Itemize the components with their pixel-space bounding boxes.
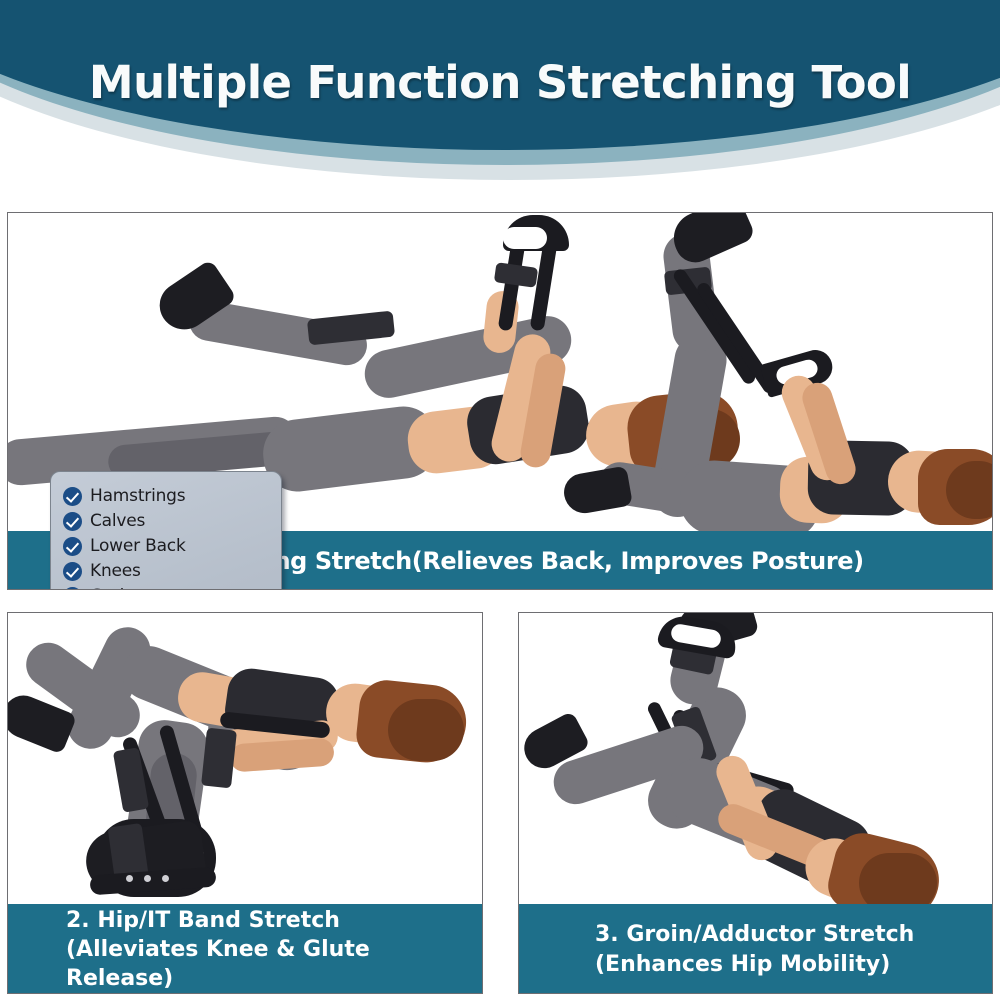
panel-2-caption: 2. Hip/IT Band Stretch (Alleviates Knee … — [8, 904, 482, 994]
page-header: Multiple Function Stretching Tool — [0, 0, 1000, 185]
exercise-panel-3: 3. Groin/Adductor Stretch (Enhances Hip … — [518, 612, 993, 994]
panel-2-caption-line-2: (Alleviates Knee & Glute Release) — [66, 935, 482, 993]
check-circle-icon — [63, 487, 82, 506]
page-title: Multiple Function Stretching Tool — [0, 56, 1000, 109]
checklist-item-label: Lower Back — [90, 536, 186, 556]
checklist-item-label: Knees — [90, 561, 141, 581]
exercise-image-2 — [8, 613, 482, 904]
checklist-item: Knees — [63, 559, 271, 583]
target-muscle-checklist: HamstringsCalvesLower BackKneesGroinGlut… — [50, 471, 282, 590]
panel-3-caption-line-1: 3. Groin/Adductor Stretch — [595, 920, 992, 949]
exercise-panel-2: 2. Hip/IT Band Stretch (Alleviates Knee … — [7, 612, 483, 994]
checklist-item: Hamstrings — [63, 484, 271, 508]
checklist-item: Calves — [63, 509, 271, 533]
check-circle-icon — [63, 537, 82, 556]
checklist-item: Groin — [63, 584, 271, 590]
panel-3-caption-line-2: (Enhances Hip Mobility) — [595, 950, 992, 979]
check-circle-icon — [63, 587, 82, 591]
checklist-item: Lower Back — [63, 534, 271, 558]
exercise-image-3 — [519, 613, 992, 904]
panel-2-caption-line-1: 2. Hip/IT Band Stretch — [66, 906, 482, 935]
check-circle-icon — [63, 512, 82, 531]
exercise-panel-1: HamstringsCalvesLower BackKneesGroinGlut… — [7, 212, 993, 590]
checklist-item-label: Hamstrings — [90, 486, 185, 506]
checklist-item-label: Calves — [90, 511, 145, 531]
panel-3-caption: 3. Groin/Adductor Stretch (Enhances Hip … — [519, 904, 992, 994]
check-circle-icon — [63, 562, 82, 581]
checklist-item-label: Groin — [90, 586, 135, 590]
